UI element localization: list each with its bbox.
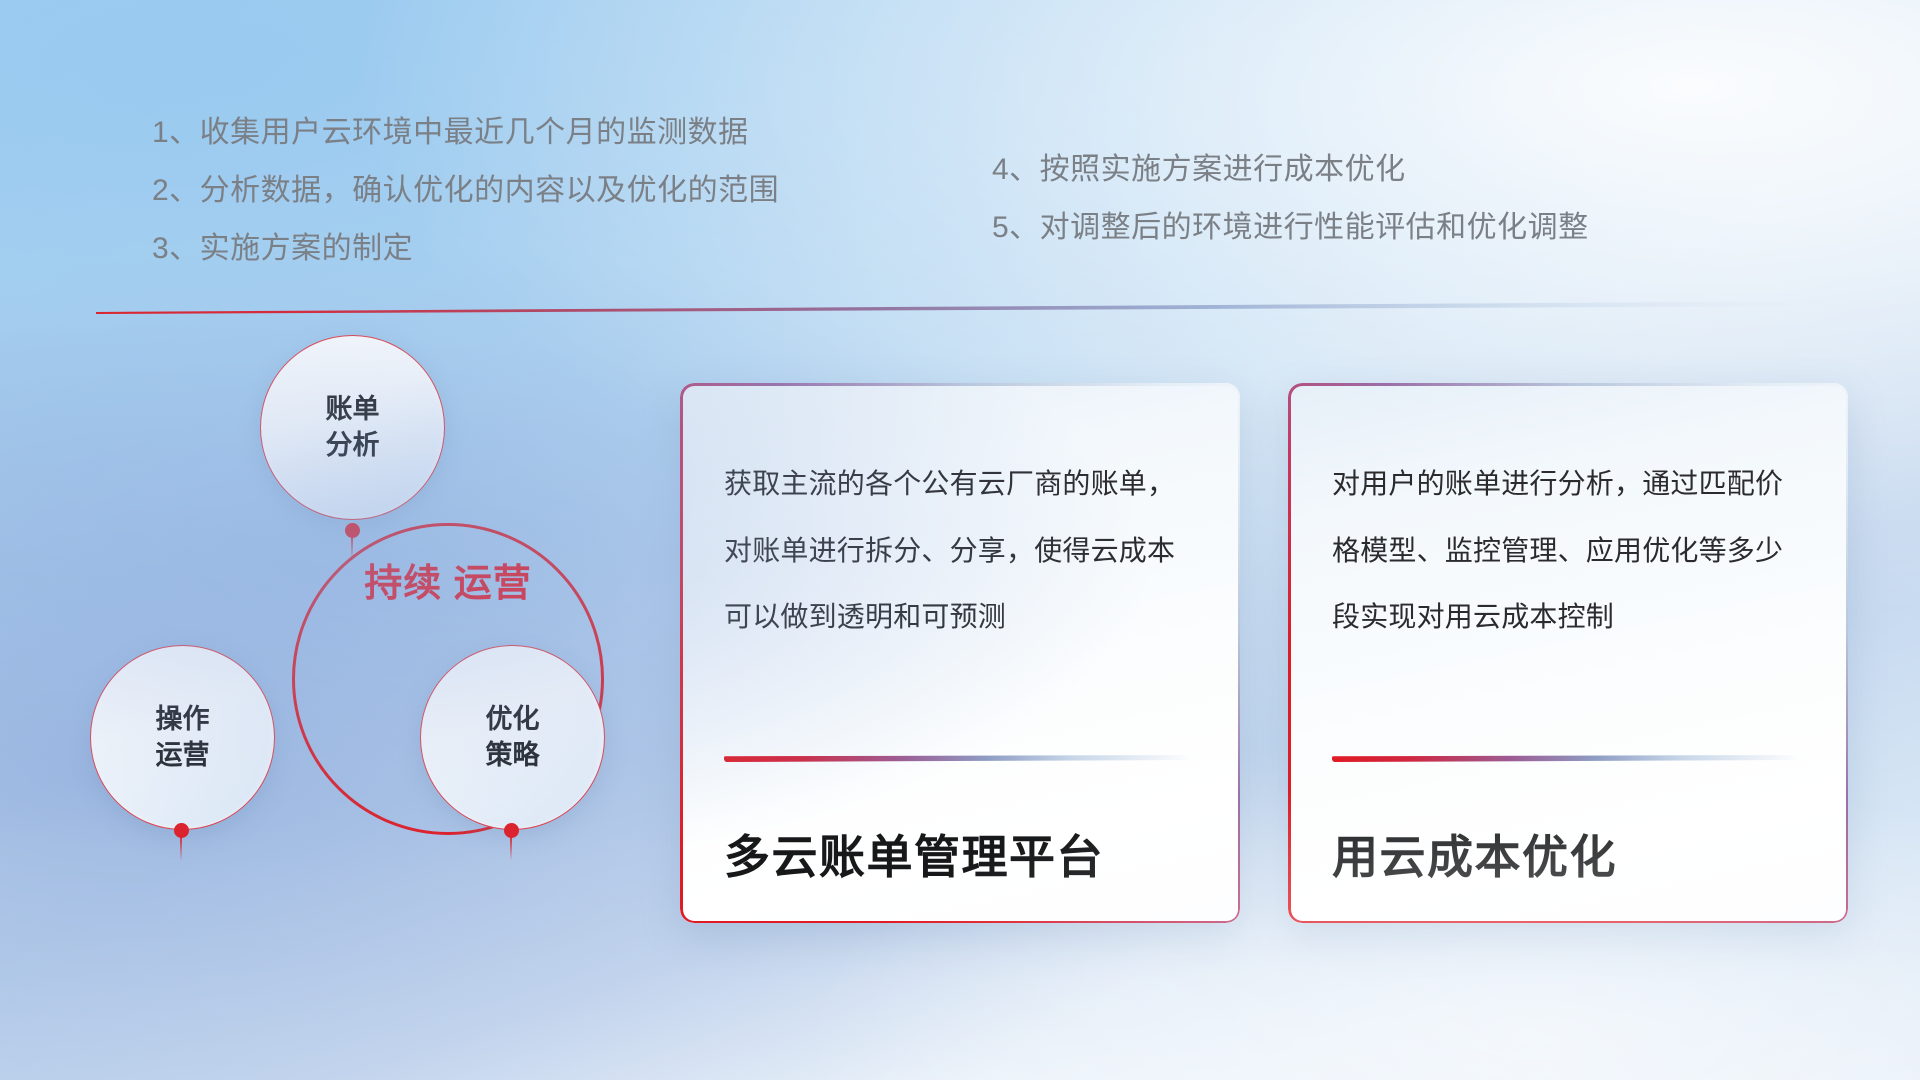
cycle-diagram: 持续 运营 账单 分析 操作 运营 优化 策略: [100, 345, 660, 945]
cycle-node-billing-analysis[interactable]: 账单 分析: [260, 335, 445, 520]
steps-right-column: 4、按照实施方案进行成本优化 5、对调整后的环境进行性能评估和优化调整: [992, 155, 1589, 271]
feature-card-cloud-cost-optimization[interactable]: 对用户的账单进行分析，通过匹配价格模型、监控管理、应用优化等多少段实现对用云成本…: [1288, 383, 1848, 923]
card-accent-rule: [724, 755, 1194, 762]
slide-canvas: 1、收集用户云环境中最近几个月的监测数据 2、分析数据，确认优化的内容以及优化的…: [0, 0, 1920, 1080]
divider-shape: [96, 301, 1856, 314]
node-label-line2: 运营: [156, 738, 210, 773]
node-tail-icon: [351, 535, 353, 561]
cycle-center-line1: 持续: [364, 563, 442, 605]
step-item: 4、按照实施方案进行成本优化: [992, 155, 1589, 185]
node-dot-icon: [174, 823, 189, 838]
step-item: 2、分析数据，确认优化的内容以及优化的范围: [152, 176, 779, 206]
step-item: 1、收集用户云环境中最近几个月的监测数据: [152, 118, 779, 148]
card-title: 多云账单管理平台: [724, 821, 1210, 887]
step-item: 3、实施方案的制定: [152, 234, 779, 264]
node-label-line1: 账单: [326, 392, 380, 427]
card-title: 用云成本优化: [1332, 821, 1818, 887]
node-label-line1: 操作: [156, 702, 210, 737]
cycle-node-optimization-strategy[interactable]: 优化 策略: [420, 645, 605, 830]
node-label-line2: 策略: [486, 738, 540, 773]
node-label-line1: 优化: [486, 702, 540, 737]
cycle-center-line2: 运营: [454, 563, 532, 605]
section-divider: [96, 301, 1856, 314]
card-accent-rule: [1332, 755, 1802, 762]
node-dot-icon: [504, 823, 519, 838]
card-description: 对用户的账单进行分析，通过匹配价格模型、监控管理、应用优化等多少段实现对用云成本…: [1332, 451, 1808, 651]
step-item: 5、对调整后的环境进行性能评估和优化调整: [992, 213, 1589, 243]
feature-card-multicloud-billing[interactable]: 获取主流的各个公有云厂商的账单，对账单进行拆分、分享，使得云成本可以做到透明和可…: [680, 383, 1240, 923]
steps-left-column: 1、收集用户云环境中最近几个月的监测数据 2、分析数据，确认优化的内容以及优化的…: [152, 118, 779, 292]
card-description: 获取主流的各个公有云厂商的账单，对账单进行拆分、分享，使得云成本可以做到透明和可…: [724, 451, 1200, 651]
node-tail-icon: [510, 835, 512, 861]
node-tail-icon: [180, 835, 182, 861]
cycle-node-operations[interactable]: 操作 运营: [90, 645, 275, 830]
node-dot-icon: [345, 523, 360, 538]
node-label-line2: 分析: [326, 428, 380, 463]
cycle-center-label: 持续 运营: [292, 560, 604, 609]
